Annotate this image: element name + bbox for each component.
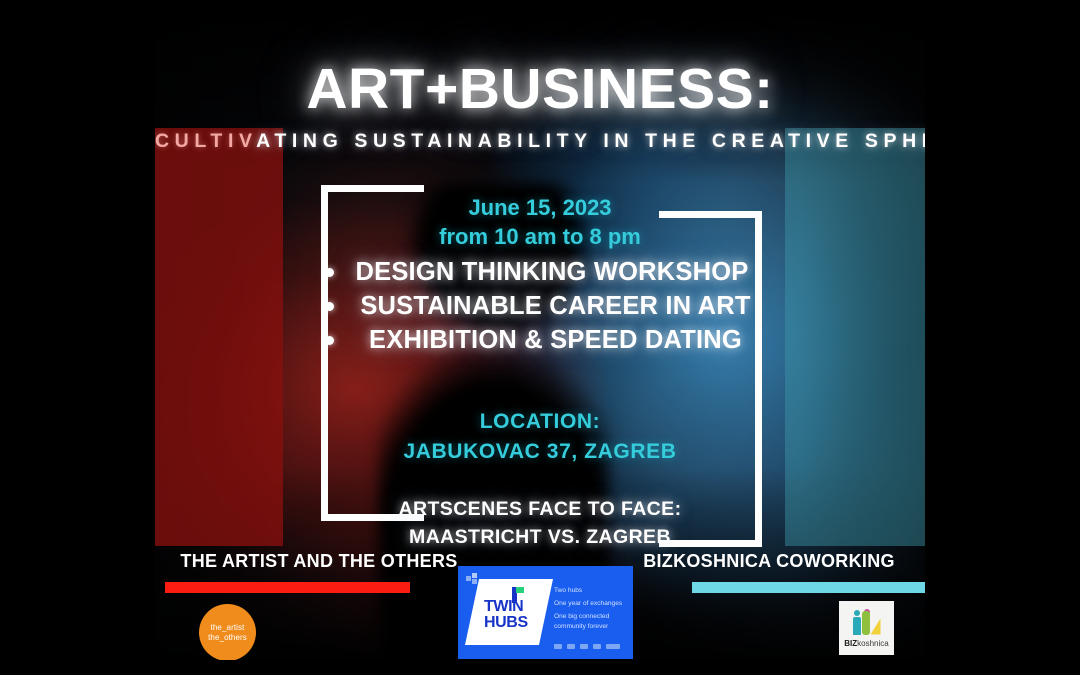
bizkoshnica-logo: BIZkoshnica: [839, 601, 894, 655]
program-item-label: SUSTAINABLE CAREER IN ART: [356, 292, 756, 321]
poster-content: June 15, 2023 from 10 am to 8 pm DESIGN …: [155, 15, 925, 660]
twin-hubs-funder-logos: [554, 644, 620, 649]
program-item-label: EXHIBITION & SPEED DATING: [356, 326, 756, 355]
event-poster: ART+BUSINESS: CULTIVATING SUSTAINABILITY…: [155, 15, 925, 660]
artist-logo-line-1: the_artist: [211, 623, 245, 632]
biz-bar-icon: [871, 619, 881, 635]
funder-logo-icon: [593, 644, 601, 649]
tagline-line-4: community forever: [554, 622, 630, 632]
bullet-dot-icon: [325, 336, 334, 345]
funder-logo-icon: [567, 644, 575, 649]
twin-hubs-word-twin: TWIN: [484, 599, 523, 615]
faceoff-line-1: ARTSCENES FACE TO FACE:: [155, 496, 925, 524]
biz-dot-icon: [854, 610, 860, 616]
event-date: June 15, 2023: [155, 193, 925, 222]
partner-left-name: THE ARTIST AND THE OTHERS: [169, 551, 469, 572]
artist-logo-line-2: the_others: [208, 633, 247, 642]
biz-wordmark-bold: BIZ: [844, 639, 857, 648]
twin-hubs-word-hubs: HUBS: [484, 615, 528, 631]
bizkoshnica-wordmark: BIZkoshnica: [844, 640, 888, 648]
bizkoshnica-mark-icon: [850, 609, 884, 637]
location-address: JABUKOVAC 37, ZAGREB: [155, 437, 925, 467]
event-location: LOCATION: JABUKOVAC 37, ZAGREB: [155, 407, 925, 468]
biz-wordmark-light: koshnica: [857, 639, 889, 648]
list-item: SUSTAINABLE CAREER IN ART: [155, 292, 925, 321]
cyan-rule-divider: [692, 582, 925, 593]
list-item: EXHIBITION & SPEED DATING: [155, 326, 925, 355]
biz-bar-icon: [853, 617, 861, 635]
the-artist-and-the-others-logo: the_artist the_others: [199, 604, 256, 660]
twin-hubs-flag-icon: [516, 587, 524, 593]
red-rule-divider: [165, 582, 410, 593]
twin-hubs-logo-banner: TWIN HUBS Two hubs One year of exchanges…: [458, 566, 633, 659]
faceoff-section: ARTSCENES FACE TO FACE: MAASTRICHT VS. Z…: [155, 496, 925, 551]
partner-right-name: BIZKOSHNICA COWORKING: [619, 551, 919, 572]
event-hours: from 10 am to 8 pm: [155, 222, 925, 251]
list-item: DESIGN THINKING WORKSHOP: [155, 258, 925, 287]
program-item-label: DESIGN THINKING WORKSHOP: [356, 258, 756, 287]
bullet-dot-icon: [325, 302, 334, 311]
funder-logo-icon: [606, 644, 620, 649]
biz-bar-icon: [862, 611, 870, 635]
bullet-dot-icon: [325, 268, 334, 277]
event-datetime: June 15, 2023 from 10 am to 8 pm: [155, 193, 925, 251]
twin-hubs-tagline: Two hubs One year of exchanges One big c…: [554, 586, 630, 632]
faceoff-line-2: MAASTRICHT VS. ZAGREB: [155, 524, 925, 552]
program-list: DESIGN THINKING WORKSHOP SUSTAINABLE CAR…: [155, 258, 925, 360]
funder-logo-icon: [554, 644, 562, 649]
tagline-line-3: One big connected: [554, 612, 630, 622]
funder-logo-icon: [580, 644, 588, 649]
tagline-line-1: Two hubs: [554, 586, 630, 596]
tagline-line-2: One year of exchanges: [554, 599, 630, 609]
location-label: LOCATION:: [155, 407, 925, 437]
